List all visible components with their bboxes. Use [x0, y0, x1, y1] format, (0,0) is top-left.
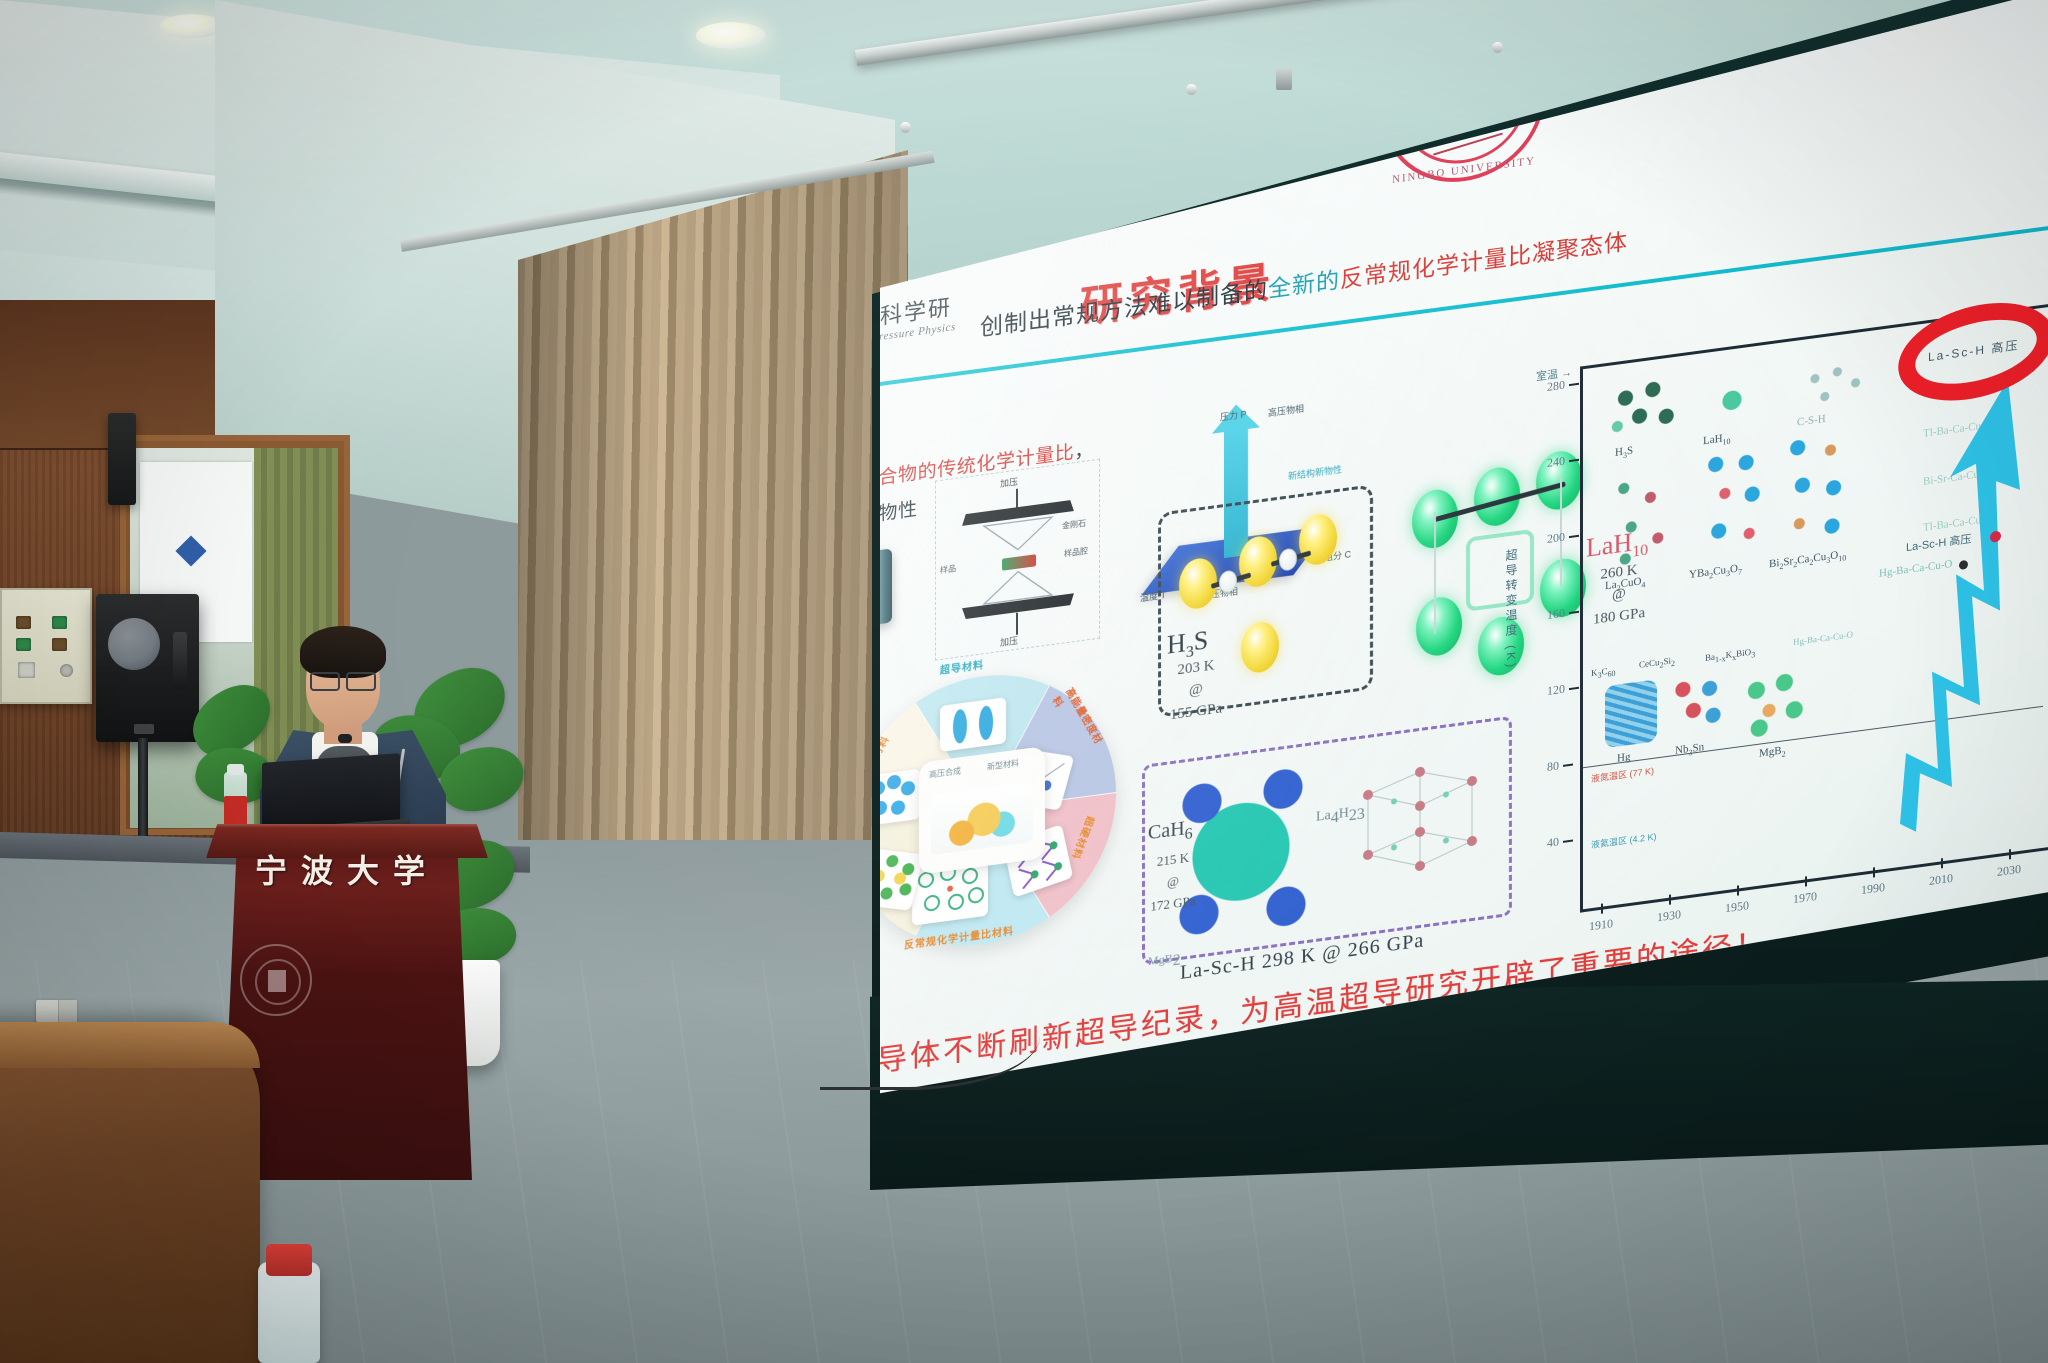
panel-icon-plate — [18, 662, 35, 678]
lectern-university-name: 宁波大学 — [206, 846, 488, 892]
chart-xtick: 2010 — [1929, 871, 1953, 889]
axis-note-side: 新结构新物性 — [1288, 462, 1342, 482]
materials-wheel: 高压合成 新型材料 超导材料 高能量密度材料 超硬材料 反常规化学计量比材料 热… — [880, 659, 1116, 963]
chart-xtick: 1910 — [1589, 916, 1613, 934]
speaker-cone-icon — [108, 618, 160, 670]
lectern-university-seal-icon — [240, 944, 312, 1016]
foreground-table — [0, 1022, 260, 1363]
rail-clip-2 — [1186, 84, 1197, 95]
sulfur-atom — [1241, 620, 1279, 675]
hydrogen-atom — [1219, 569, 1237, 593]
chart-ytick: 120 — [1547, 682, 1565, 699]
lah10-cell-edge — [1434, 512, 1436, 634]
poster-diamond-icon — [175, 535, 206, 566]
dac-label-diamond: 金刚石 — [1062, 518, 1086, 532]
chart-mol-nb3sn: Nb3Sn — [1675, 741, 1704, 759]
chart-mol-csh: C-S-H — [1797, 413, 1826, 429]
chart-mol-h3s: H3S — [1615, 445, 1633, 462]
institute-logo: 高压物理科学研究院 Institute of High Pressure Phy… — [880, 295, 956, 435]
wheel-label-0: 超导材料 — [940, 656, 984, 677]
rail-clip-3 — [1492, 42, 1503, 53]
wheel-label-2: 超硬材料 — [1069, 815, 1099, 862]
chart-xtick: 1990 — [1861, 880, 1885, 898]
panel-button-3[interactable] — [16, 638, 31, 651]
chart-ytick: 160 — [1547, 606, 1565, 623]
downlight-4 — [696, 22, 766, 49]
chart-mol-ybco: YBa2Cu3O7 — [1689, 562, 1742, 583]
wheel-hub-label-right: 新型材料 — [987, 757, 1019, 772]
chart-mol-la2cuo4: La2CuO4 — [1605, 575, 1645, 595]
speaker-handle — [173, 632, 187, 690]
presenter-hair — [300, 626, 386, 678]
lah10-cluster-blob — [1721, 388, 1743, 413]
wheel-hub-graphic — [931, 782, 1033, 856]
wheel-card-hard — [880, 769, 920, 826]
dac-label-gasket: 样品腔 — [1064, 545, 1088, 559]
presentation-photo-scene: 学科建设会议 宁波大学 NINGBO UNIVERSITY — [0, 0, 2048, 1363]
chart-ytick: 80 — [1547, 758, 1559, 775]
panel-emergency-knob[interactable] — [60, 664, 73, 677]
chart-mol-lah10: LaH10 — [1703, 432, 1731, 450]
chart-note-lhe: 液氦温区 (4.2 K) — [1591, 829, 1657, 851]
rail-hook — [1276, 68, 1292, 90]
la4h23-structure — [1350, 749, 1490, 923]
ybco-blob — [1699, 444, 1775, 562]
chart-ytick: 40 — [1547, 834, 1559, 851]
lead-red: 反常规化学计量比凝聚态体 — [1340, 229, 1628, 293]
chart-xtick: 1950 — [1725, 898, 1749, 916]
chart-ylabel: 超导转变温度 (K) — [1503, 548, 1520, 672]
water-bottle-label — [224, 796, 247, 826]
dac-label-sample: 样品 — [940, 563, 956, 576]
foreground-water-bottle — [258, 1262, 320, 1363]
wall-speaker-small — [108, 413, 136, 505]
presenter-glasses-icon — [310, 672, 376, 687]
h3s-cluster-blob — [1607, 372, 1681, 444]
chart-mol-bakbio3: Ba1-xKxBiO3 — [1705, 646, 1755, 665]
diamond-anvil-cell-photo — [880, 548, 892, 629]
mgb2-label: MgB2 — [1148, 950, 1181, 974]
sulfur-atom — [1299, 512, 1337, 567]
lah10-h-cage — [1466, 529, 1534, 612]
wall-power-socket[interactable] — [36, 1000, 76, 1022]
chart-xtick: 2030 — [1997, 862, 2021, 880]
wheel-hub: 高压合成 新型材料 — [919, 746, 1045, 875]
h3s-structure-box: H3S 203 K@155 GPa — [1158, 484, 1373, 718]
hydrogen-atom — [1279, 547, 1297, 571]
dac-schematic: 加压 加压 金刚石 样品腔 样品 — [935, 459, 1100, 661]
chart-mol-hgbacacuo-small: Hg-Ba-Ca-Cu-O — [1793, 629, 1853, 647]
chart-ytick: 240 — [1547, 454, 1565, 471]
body-line2: 系，呈现新结构和新物性 — [880, 498, 918, 549]
lanthanum-atom — [1416, 594, 1462, 658]
wheel-hub-label-left: 高压合成 — [929, 765, 961, 780]
chart-mol-mgb2: MgB2 — [1759, 744, 1786, 762]
speaker-badge — [134, 724, 154, 734]
chart-xtick: 1930 — [1657, 907, 1681, 925]
chart-mol-cecu2si2: CeCu2Si2 — [1639, 655, 1675, 673]
dac-label-bottom: 加压 — [1000, 634, 1018, 649]
panel-button-1[interactable] — [16, 616, 31, 629]
chart-ytick: 200 — [1547, 530, 1565, 547]
foreground-table-top — [0, 1022, 260, 1068]
wheel-label-1: 高能量密度材料 — [1050, 684, 1110, 761]
lead-cyan: 全新的 — [1268, 268, 1340, 304]
panel-button-2[interactable] — [52, 616, 67, 629]
bsccо-blob — [1779, 429, 1857, 551]
dac-label-top: 加压 — [1000, 475, 1018, 490]
chart-mol-k3c60: K3C60 — [1591, 665, 1616, 681]
wheel-card-superconductor — [940, 697, 1006, 752]
cah6-condition: 215 K@172 GPa — [1142, 845, 1204, 919]
nb3sn-blob — [1669, 670, 1727, 740]
h3s-condition: 203 K@155 GPa — [1159, 652, 1233, 728]
wall-control-panel[interactable] — [0, 588, 92, 704]
panel-button-4[interactable] — [52, 638, 67, 651]
la2cuo4-blob — [1609, 462, 1683, 576]
foreground-water-bottle-cap — [266, 1244, 312, 1276]
axis-note-top: 高压物相 — [1268, 401, 1304, 419]
rail-clip-1 — [900, 122, 911, 133]
floor-speaker — [96, 594, 199, 742]
mgb2-blob — [1741, 667, 1811, 744]
chart-xtick: 1970 — [1793, 889, 1817, 907]
microphone-head-icon — [338, 734, 352, 743]
water-bottle-cap — [227, 764, 244, 775]
chart-mol-bscco: Bi2Sr2Ca2Cu3O10 — [1769, 548, 1846, 572]
hg-blob — [1605, 679, 1657, 748]
lectern-seal-gate-mark — [268, 970, 286, 992]
dac-arrow-up — [1016, 613, 1018, 635]
csh-cluster-blob — [1801, 357, 1871, 414]
chart-note-ln2: 液氮温区 (77 K) — [1591, 764, 1654, 785]
